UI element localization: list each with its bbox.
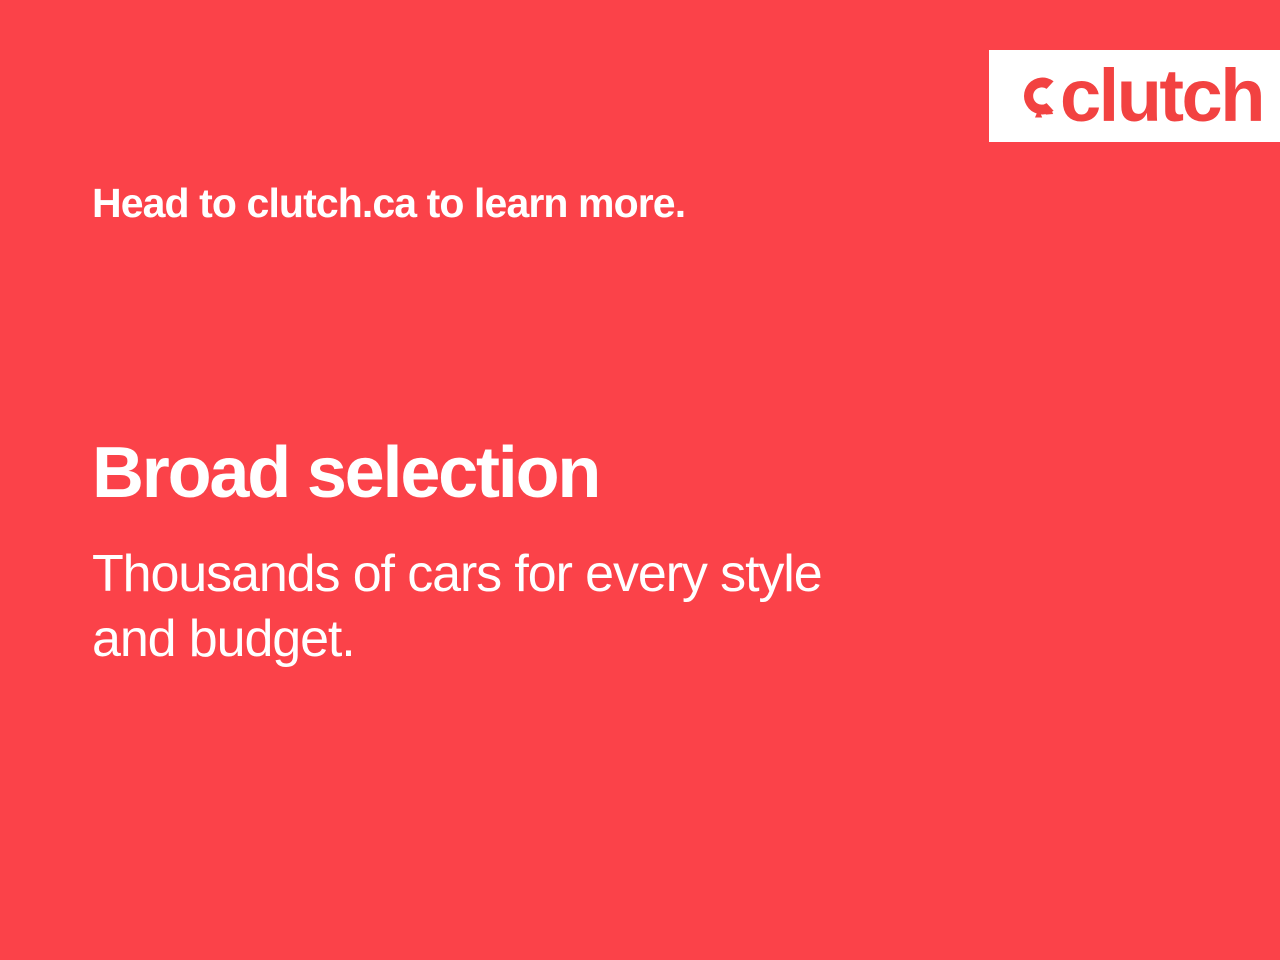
clutch-logo-lockup: clutch <box>1015 50 1263 142</box>
subhead-text: Thousands of cars for every style and bu… <box>92 542 1052 672</box>
clutch-wordmark: clutch <box>1060 50 1263 142</box>
subhead-line-2: and budget. <box>92 607 1052 672</box>
clutch-c-mark-icon <box>1015 50 1061 142</box>
promo-slide: clutch Head to clutch.ca to learn more. … <box>0 0 1280 960</box>
page-title: Broad selection <box>92 437 599 509</box>
subhead-line-1: Thousands of cars for every style <box>92 542 1052 607</box>
brand-logo-plate: clutch <box>989 50 1280 142</box>
kicker-text: Head to clutch.ca to learn more. <box>92 181 685 226</box>
